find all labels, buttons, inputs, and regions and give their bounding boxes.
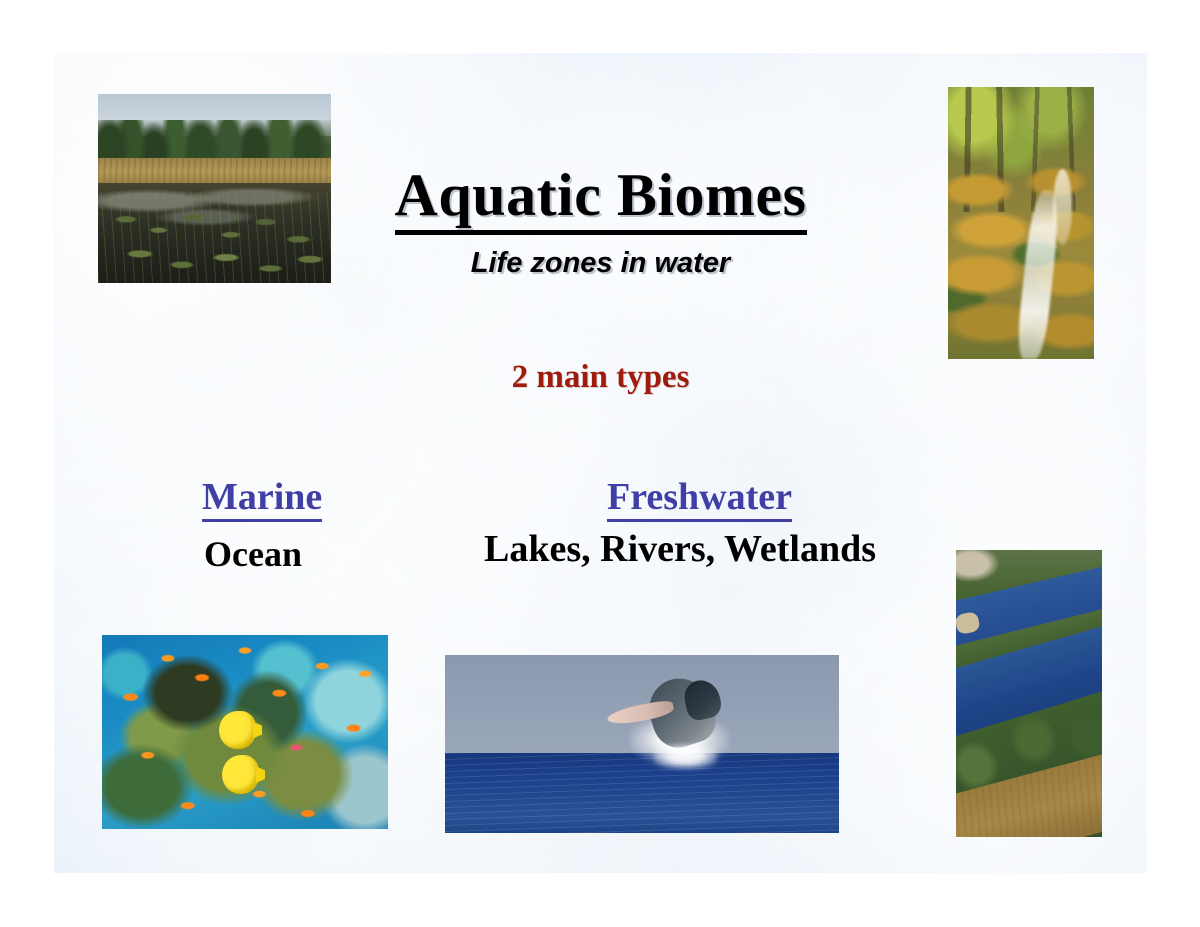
coral-reef-photo [102, 635, 388, 829]
category-examples-marine: Ocean [204, 533, 302, 575]
category-heading-marine: Marine [202, 475, 322, 519]
category-examples-freshwater: Lakes, Rivers, Wetlands [484, 527, 876, 571]
category-heading-freshwater-text: Freshwater [607, 476, 792, 522]
butterflyfish-lower [222, 755, 259, 794]
whale-splash [654, 744, 717, 769]
breaching-whale-photo [445, 655, 839, 833]
category-heading-marine-text: Marine [202, 476, 322, 522]
page-title: Aquatic Biomes [54, 165, 1147, 225]
slide-canvas: Aquatic Biomes Life zones in water 2 mai… [54, 53, 1147, 873]
butterflyfish-upper [219, 711, 256, 750]
category-heading-freshwater: Freshwater [607, 475, 792, 519]
page-subtitle: Life zones in water [54, 247, 1147, 280]
main-types-label: 2 main types [54, 359, 1147, 396]
page-title-text: Aquatic Biomes [395, 162, 807, 235]
aerial-river-photo [956, 550, 1102, 837]
